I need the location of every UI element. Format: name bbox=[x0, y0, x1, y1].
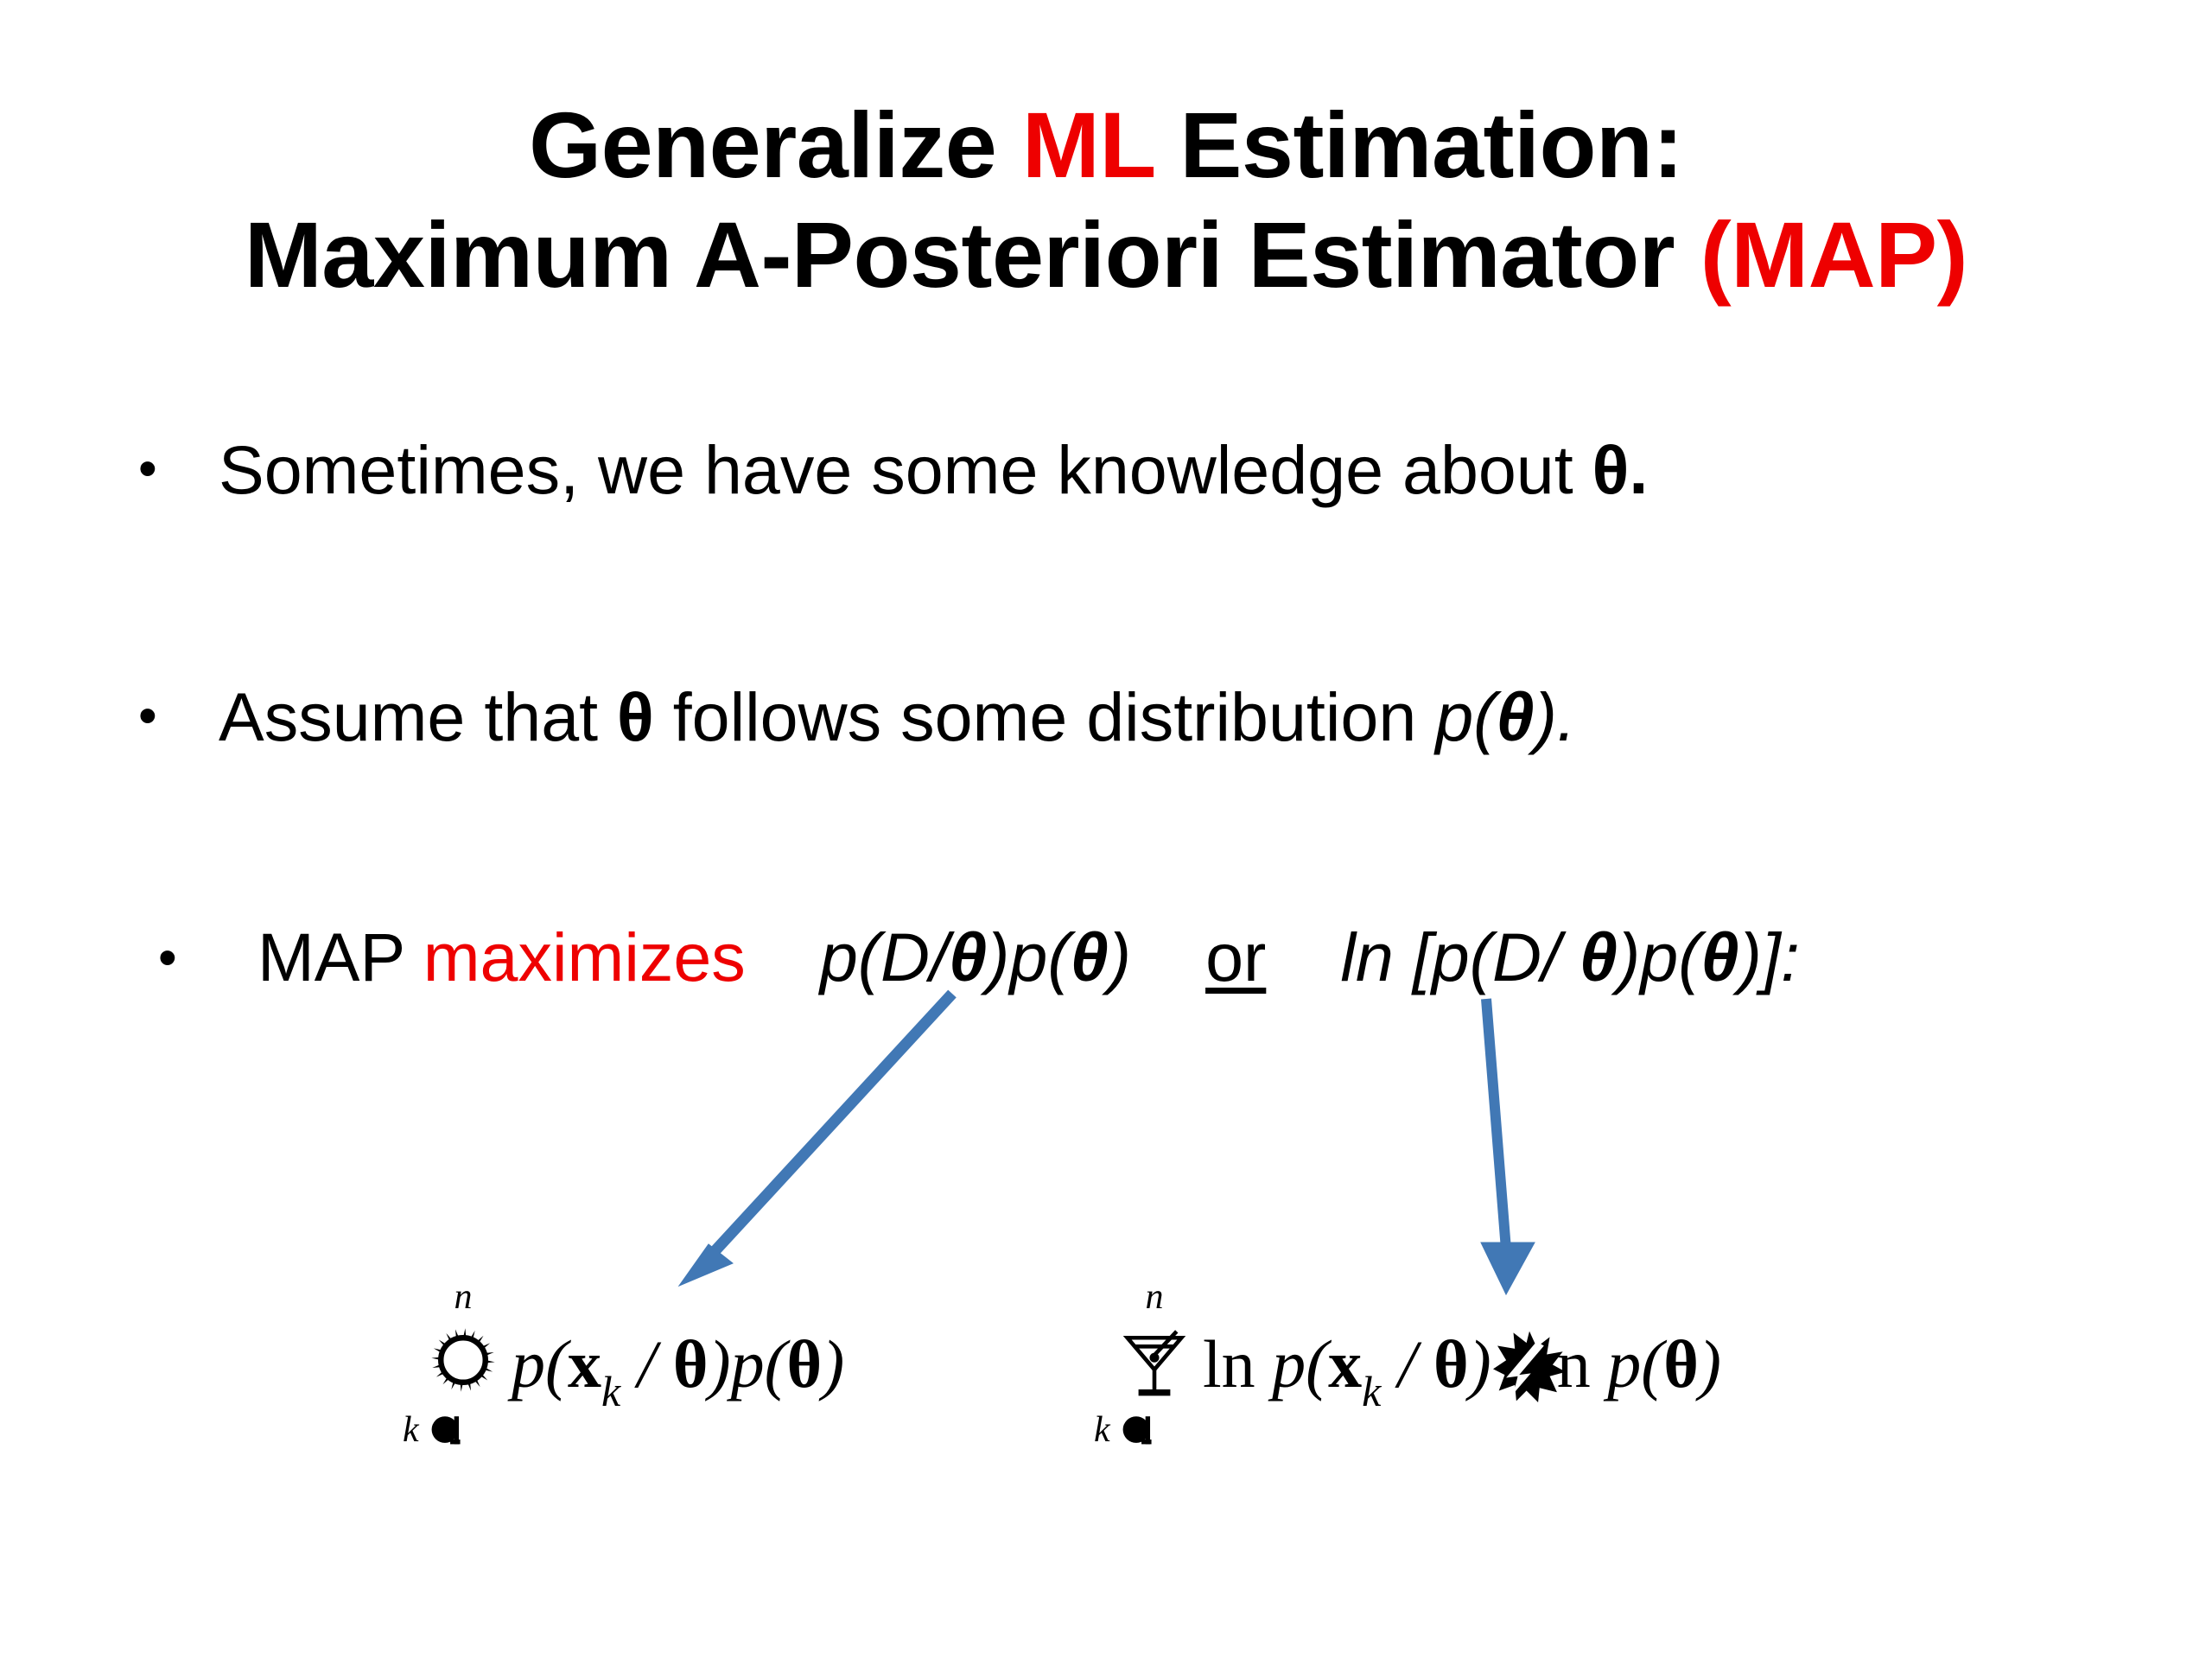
bullet-2-seg-2: follows some distribution bbox=[654, 678, 1436, 755]
arrow-to-sum-formula-icon bbox=[1460, 994, 1555, 1296]
broken-product-starburst-outline-icon bbox=[415, 1320, 512, 1400]
bullet-marker-2: • bbox=[138, 690, 157, 743]
bullet-3-seg-maximizes: maximizes bbox=[423, 918, 746, 995]
map-log-sum-formula: n k ln p(xk / θ) n p(θ) bbox=[1106, 1279, 1721, 1460]
bullet-2-seg-0: Assume that bbox=[219, 678, 617, 755]
bullet-3-seg-close: ) bbox=[1109, 918, 1131, 995]
lf-x: x bbox=[1328, 1326, 1362, 1402]
pf-k-subscript: k bbox=[601, 1367, 620, 1415]
broken-equals-filled-circle-icon bbox=[428, 1408, 467, 1446]
pf-theta-2: θ bbox=[787, 1326, 823, 1402]
pf-theta-1: θ bbox=[673, 1326, 709, 1402]
sum-lower-limit-var: k bbox=[1094, 1410, 1110, 1450]
bullet-3-seg-theta-4: θ bbox=[1701, 918, 1739, 995]
bullet-3-seg-tail: )]: bbox=[1739, 918, 1800, 995]
bullet-2-seg-5: ). bbox=[1535, 678, 1576, 755]
bullet-1-seg-0: Sometimes, we have some knowledge about bbox=[219, 431, 1592, 508]
bullet-2-seg-1-theta: θ bbox=[617, 678, 654, 755]
lf-n: n bbox=[1557, 1326, 1608, 1402]
title-line-2: Maximum A-Posteriori Estimator (MAP) bbox=[0, 200, 2212, 309]
pf-p-open: p( bbox=[512, 1326, 568, 1402]
bullet-text-2: Assume that θ follows some distribution … bbox=[219, 683, 1576, 751]
bullet-marker-1: • bbox=[138, 442, 157, 496]
title-line-1-part-1: Generalize bbox=[529, 92, 1022, 197]
broken-equals-filled-circle-icon-2 bbox=[1119, 1408, 1159, 1446]
pf-slash: / bbox=[620, 1326, 673, 1402]
lf-theta-1: θ bbox=[1433, 1326, 1469, 1402]
bullet-marker-3: • bbox=[158, 931, 177, 985]
pf-open-2: ( bbox=[765, 1326, 787, 1402]
title-line-1: Generalize ML Estimation: bbox=[0, 90, 2212, 200]
bullet-1-seg-1-theta: θ. bbox=[1592, 431, 1649, 508]
arrow-to-product-formula-icon bbox=[657, 985, 968, 1296]
bullet-text-1: Sometimes, we have some knowledge about … bbox=[219, 435, 1648, 504]
lf-close-2: ) bbox=[1699, 1326, 1721, 1402]
title-map-accent: (MAP) bbox=[1700, 202, 1967, 307]
lf-slash: / bbox=[1381, 1326, 1433, 1402]
pf-close-1: ) bbox=[709, 1326, 731, 1402]
bullet-3-seg-ln: ln [p(D/ bbox=[1340, 918, 1580, 995]
pf-close-2: ) bbox=[822, 1326, 844, 1402]
bullet-3-seg-pp: )p( bbox=[987, 918, 1071, 995]
pf-x: x bbox=[568, 1326, 601, 1402]
pf-p2: p bbox=[731, 1326, 765, 1402]
lf-theta-2: θ bbox=[1663, 1326, 1699, 1402]
product-operator-group: n k bbox=[415, 1279, 512, 1460]
title-line-1-part-2: Estimation: bbox=[1154, 92, 1683, 197]
sum-lower-limit: k bbox=[1094, 1408, 1206, 1448]
lf-p-open: p( bbox=[1272, 1326, 1328, 1402]
bullet-text-3: MAP maximizesp(D/θ)p(θ)orln [p(D/ θ)p(θ)… bbox=[257, 923, 1800, 991]
lf-k-subscript: k bbox=[1362, 1367, 1381, 1415]
product-lower-limit: k bbox=[403, 1408, 515, 1448]
log-sum-formula-body: ln p(xk / θ) n p(θ) bbox=[1203, 1330, 1721, 1413]
slide-title: Generalize ML Estimation: Maximum A-Post… bbox=[0, 90, 2212, 310]
bullet-2-seg-3: p( bbox=[1435, 678, 1496, 755]
broken-plus-starburst-filled-icon bbox=[1493, 1330, 1566, 1402]
sum-operator-group: n k bbox=[1106, 1279, 1203, 1460]
bullet-2-seg-4-theta: θ bbox=[1497, 678, 1535, 755]
broken-sum-cocktail-glass-icon bbox=[1106, 1320, 1203, 1400]
lf-open-2: ( bbox=[1641, 1326, 1663, 1402]
product-upper-limit: n bbox=[415, 1279, 512, 1315]
sum-upper-limit: n bbox=[1106, 1279, 1203, 1315]
lf-p2: p bbox=[1607, 1326, 1641, 1402]
bullet-3-seg-theta-2: θ bbox=[1071, 918, 1109, 995]
bullet-3-seg-theta-3: θ bbox=[1580, 918, 1618, 995]
bullet-3-seg-pd: p(D/ bbox=[820, 918, 949, 995]
product-formula-body: p(xk / θ)p(θ) bbox=[512, 1331, 844, 1413]
bullet-3-seg-map: MAP bbox=[257, 918, 423, 995]
product-lower-limit-var: k bbox=[403, 1410, 419, 1450]
map-product-formula: n k p(xk / θ)p(θ) bbox=[415, 1279, 844, 1460]
bullet-3-seg-theta-1: θ bbox=[949, 918, 987, 995]
lf-close-1: ) bbox=[1469, 1326, 1491, 1402]
bullet-3-seg-pp2: )p( bbox=[1618, 918, 1701, 995]
bullet-3-seg-or: or bbox=[1205, 918, 1266, 995]
title-ml-accent: ML bbox=[1022, 92, 1154, 197]
title-line-2-part-1: Maximum A-Posteriori Estimator bbox=[245, 202, 1700, 307]
lf-ln-1: ln bbox=[1203, 1326, 1272, 1402]
